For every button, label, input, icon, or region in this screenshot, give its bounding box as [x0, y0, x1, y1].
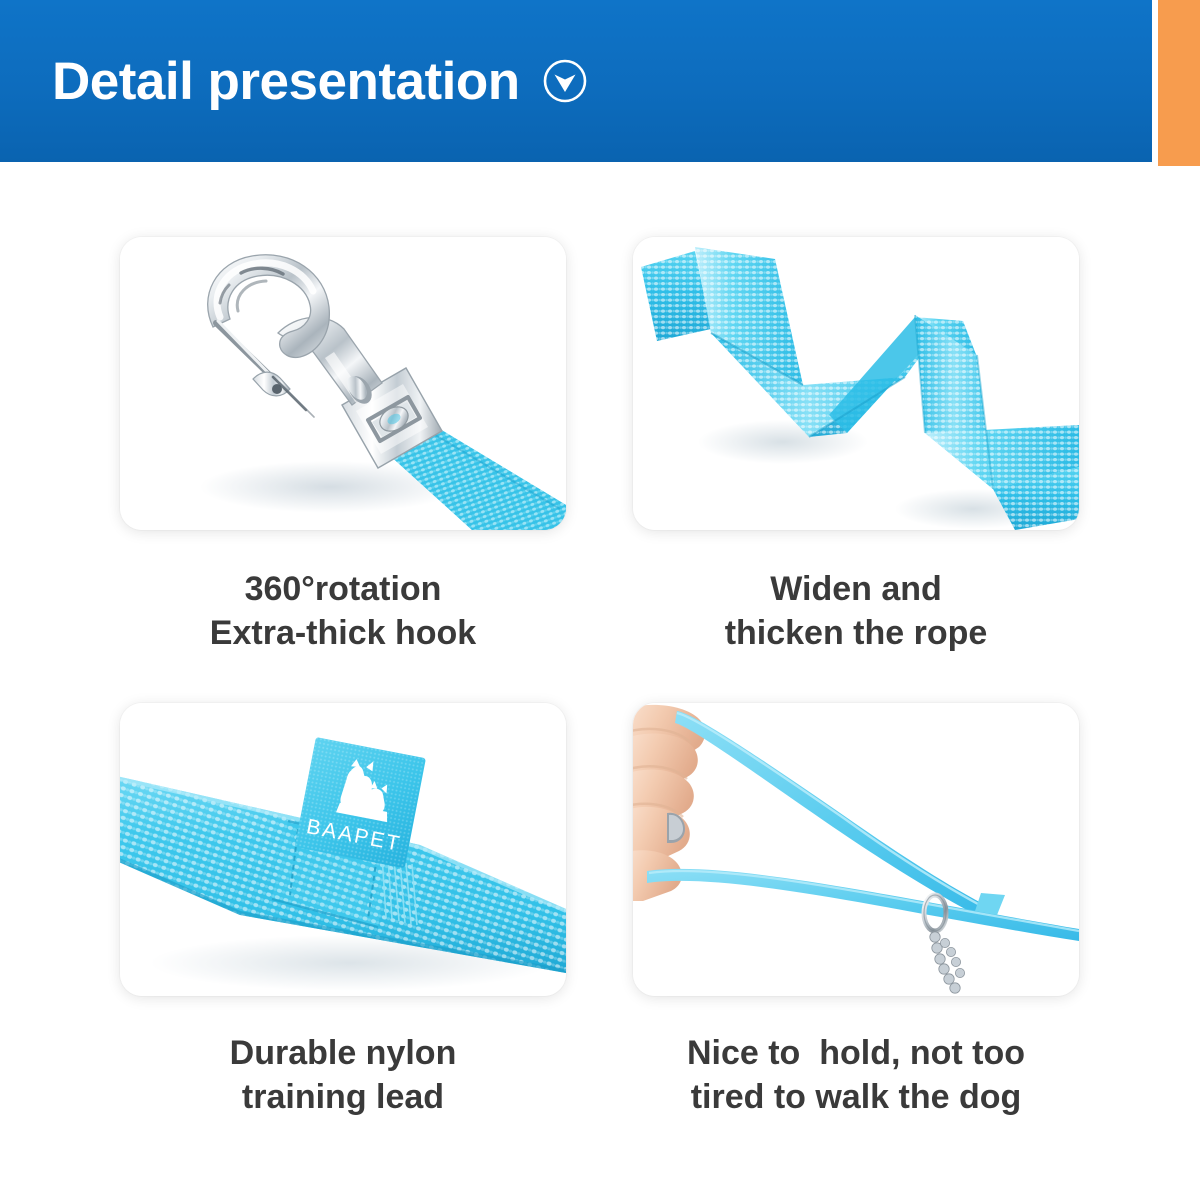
nylon-strap-photo: BAAPET	[120, 703, 566, 996]
caption-rope: Widen and thicken the rope	[633, 568, 1079, 655]
feature-row-bottom: BAAPET Durable nylon training lead	[120, 703, 1080, 1119]
header-accent-bar	[1158, 0, 1200, 166]
hook-photo	[120, 237, 566, 530]
caption-hold-line2: tired to walk the dog	[691, 1078, 1022, 1116]
caption-nylon: Durable nylon training lead	[120, 1032, 566, 1119]
product-image-card-rope[interactable]	[633, 237, 1079, 530]
nylon-strap-illustration: BAAPET	[120, 703, 566, 996]
caption-nylon-line2: training lead	[242, 1078, 444, 1116]
product-image-card-hook[interactable]	[120, 237, 566, 530]
caption-hook: 360°rotation Extra-thick hook	[120, 568, 566, 655]
chevron-down-circle-icon[interactable]	[542, 58, 588, 104]
product-image-card-hold[interactable]	[633, 703, 1079, 996]
detail-presentation-page: Detail presentation	[0, 0, 1200, 1200]
caption-hook-line2: Extra-thick hook	[210, 614, 476, 652]
caption-hook-line1: 360°rotation	[245, 570, 442, 608]
feature-cell-nylon: BAAPET Durable nylon training lead	[120, 703, 566, 1119]
feature-cell-hold: Nice to hold, not too tired to walk the …	[633, 703, 1079, 1119]
caption-hold: Nice to hold, not too tired to walk the …	[633, 1032, 1079, 1119]
feature-cell-rope: Widen and thicken the rope	[633, 237, 1079, 655]
page-header: Detail presentation	[0, 0, 1152, 162]
product-image-card-nylon[interactable]: BAAPET	[120, 703, 566, 996]
caption-hold-line1: Nice to hold, not too	[687, 1034, 1025, 1072]
rope-photo	[633, 237, 1079, 530]
snap-hook-illustration	[120, 237, 566, 530]
feature-cell-hook: 360°rotation Extra-thick hook	[120, 237, 566, 655]
page-title: Detail presentation	[52, 55, 520, 108]
caption-rope-line2: thicken the rope	[725, 614, 988, 652]
caption-nylon-line1: Durable nylon	[230, 1034, 457, 1072]
caption-rope-line1: Widen and	[770, 570, 942, 608]
feature-row-top: 360°rotation Extra-thick hook	[120, 237, 1080, 655]
hand-leash-illustration	[633, 703, 1079, 996]
webbing-ribbon-illustration	[633, 237, 1079, 530]
feature-grid: 360°rotation Extra-thick hook	[120, 237, 1080, 1119]
hand-holding-photo	[633, 703, 1079, 996]
